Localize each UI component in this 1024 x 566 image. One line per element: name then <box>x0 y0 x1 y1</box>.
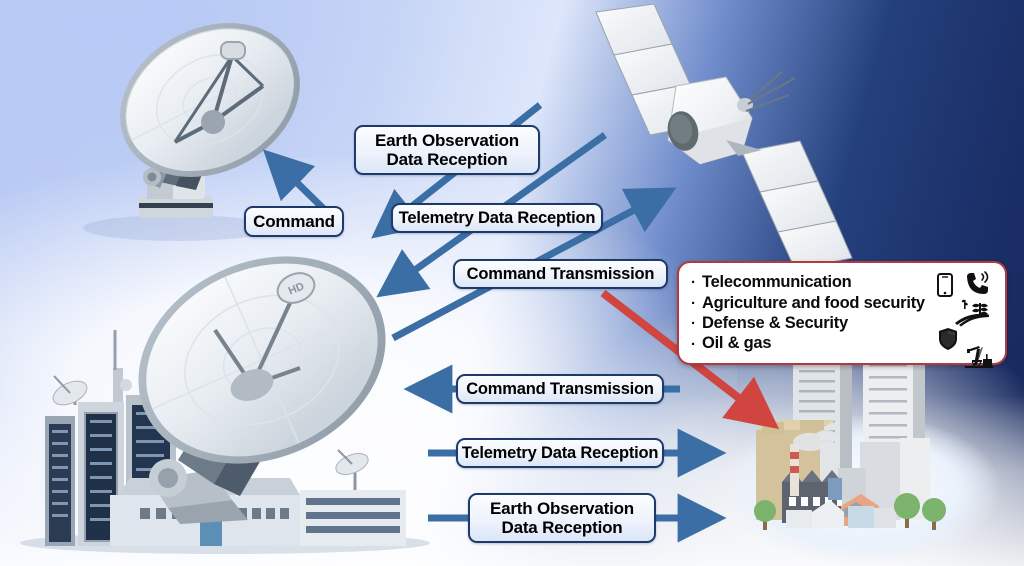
label-line-2: Data Reception <box>502 518 623 537</box>
crops-field-icon <box>953 297 991 327</box>
applications-list: · Telecommunication · Agriculture and fo… <box>691 269 935 358</box>
label-command[interactable]: Command <box>244 206 344 237</box>
list-item[interactable]: · Telecommunication <box>691 273 935 292</box>
figure-canvas: HD <box>0 0 1024 566</box>
label-command-transmission-bottom[interactable]: Command Transmission <box>456 374 664 404</box>
list-item[interactable]: · Agriculture and food security <box>691 294 935 313</box>
list-item[interactable]: · Defense & Security <box>691 314 935 333</box>
label-earth-observation-top[interactable]: Earth Observation Data Reception <box>354 125 540 175</box>
label-line-1: Earth Observation <box>490 499 634 518</box>
label-line-1: Earth Observation <box>375 131 519 150</box>
label-text: Command Transmission <box>466 380 654 398</box>
shield-icon <box>938 327 958 351</box>
bullet-icon: · <box>691 275 702 290</box>
application-label: Defense & Security <box>702 314 848 333</box>
oil-pumpjack-icon <box>963 343 995 369</box>
bullet-icon: · <box>691 337 702 352</box>
applications-icon-column <box>935 269 997 358</box>
application-label: Telecommunication <box>702 273 851 292</box>
smartphone-icon <box>937 273 953 297</box>
label-command-transmission-top[interactable]: Command Transmission <box>453 259 668 289</box>
applications-legend[interactable]: · Telecommunication · Agriculture and fo… <box>677 261 1007 365</box>
label-text: Command Transmission <box>467 265 655 283</box>
bullet-icon: · <box>691 316 702 331</box>
label-earth-observation-bottom[interactable]: Earth Observation Data Reception <box>468 493 656 543</box>
application-label: Agriculture and food security <box>702 294 925 313</box>
label-text: Command <box>253 212 335 231</box>
label-line-2: Data Reception <box>387 150 508 169</box>
bullet-icon: · <box>691 296 702 311</box>
label-text: Telemetry Data Reception <box>399 209 596 227</box>
label-text: Telemetry Data Reception <box>462 444 659 462</box>
list-item[interactable]: · Oil & gas <box>691 334 935 353</box>
label-telemetry-bottom[interactable]: Telemetry Data Reception <box>456 438 664 468</box>
label-telemetry-top[interactable]: Telemetry Data Reception <box>391 203 603 233</box>
ringing-phone-icon <box>963 271 993 297</box>
application-label: Oil & gas <box>702 334 771 353</box>
